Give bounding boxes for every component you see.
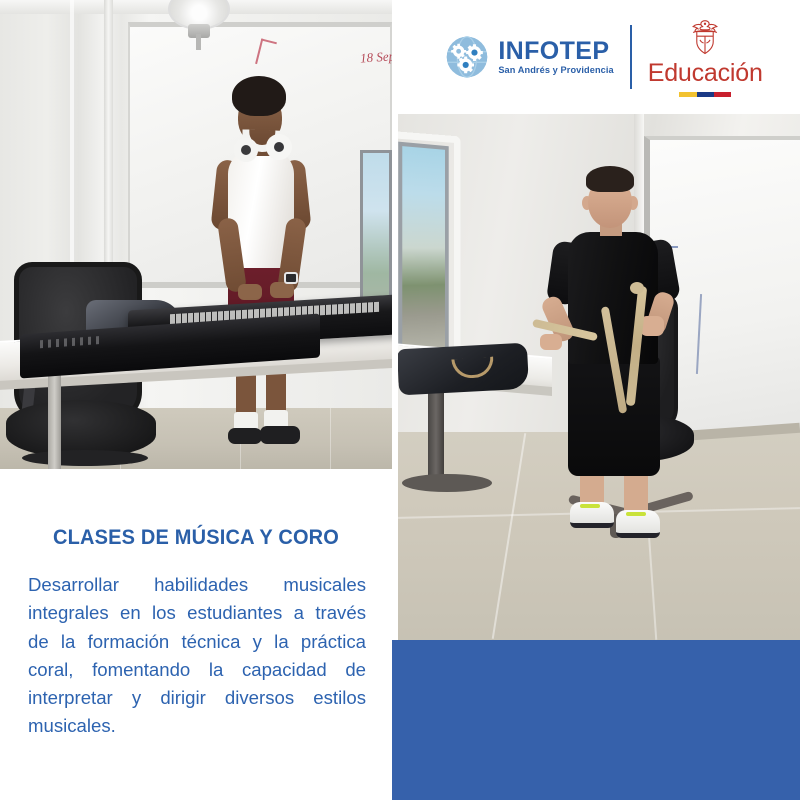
desk-leg [48, 372, 61, 469]
percussion-stick-tip [630, 282, 644, 294]
blue-accent-block [392, 640, 800, 800]
hair [586, 166, 634, 192]
colombia-flag-icon [679, 92, 731, 97]
shoelace-right [626, 512, 646, 516]
hand-left [540, 334, 562, 350]
hand-left [238, 284, 262, 300]
desk-leg [428, 388, 444, 488]
logo-divider [630, 25, 632, 89]
infotep-name: INFOTEP [498, 39, 613, 64]
poster-canvas: 18 Septiembre [0, 0, 800, 800]
chair-base [22, 450, 148, 466]
educacion-logo-lockup: Educación [648, 17, 763, 97]
desk-foot [402, 474, 492, 492]
shoe-left [228, 428, 262, 444]
headphone-earcup-left [234, 138, 258, 162]
logo-header-panel: INFOTEP San Andrés y Providencia [398, 0, 800, 114]
educacion-wordmark: Educación [648, 61, 763, 86]
headphone-earcup-right [266, 134, 292, 160]
paragraph-text: Desarrollar habilidades musicales integr… [28, 574, 366, 736]
fan-rod [196, 34, 201, 50]
hand-right [270, 282, 294, 298]
window-frame [398, 131, 461, 374]
photo-left-keyboard-class: 18 Septiembre [0, 0, 392, 469]
shoe-right [260, 426, 300, 444]
leg-right [624, 472, 648, 514]
globe-gears-icon [445, 35, 489, 79]
infotep-subtitle: San Andrés y Providencia [498, 66, 613, 75]
student-playing-keyboard [198, 76, 318, 469]
colombia-coat-of-arms-icon [686, 17, 724, 59]
page-title: CLASES DE MÚSICA Y CORO [14, 525, 379, 550]
wristwatch-icon [284, 272, 298, 284]
infotep-logo-lockup: INFOTEP San Andrés y Providencia [445, 35, 613, 79]
student-with-percussion [546, 166, 686, 586]
description-panel: CLASES DE MÚSICA Y CORO Desarrollar habi… [0, 469, 392, 800]
photo-right-percussion-class [398, 114, 800, 640]
hair [232, 76, 286, 116]
description-paragraph: Desarrollar habilidades musicales integr… [28, 571, 366, 769]
shoelace-left [580, 504, 600, 508]
